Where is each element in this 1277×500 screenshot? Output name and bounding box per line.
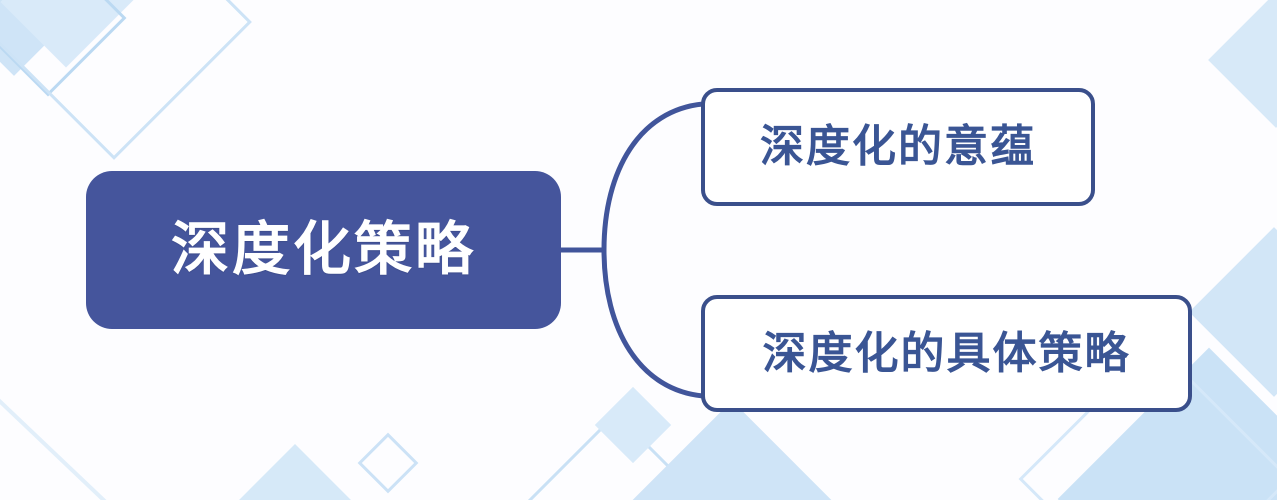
decor-square-outline-b-1: [360, 435, 417, 492]
decor-square-filled-r-1: [1208, 0, 1277, 128]
decor-square-filled-r-2: [1189, 227, 1277, 397]
decor-square-filled-b-3: [598, 401, 867, 500]
decor-square-filled-tl-1: [0, 0, 82, 76]
decor-square-filled-b-2: [595, 387, 671, 463]
mindmap-canvas: 深度化策略 深度化的意蕴 深度化的具体策略: [0, 0, 1277, 500]
node-branch-1-label: 深度化的意蕴: [760, 125, 1036, 169]
node-branch-2-label: 深度化的具体策略: [763, 332, 1131, 376]
decor-square-outline-tl-1: [0, 0, 124, 94]
node-branch-1[interactable]: 深度化的意蕴: [701, 88, 1095, 206]
connector-arc-upper: [604, 104, 703, 250]
decor-square-filled-b-1: [220, 444, 370, 500]
node-root-label: 深度化策略: [171, 221, 476, 279]
decor-diagonal-bl: [0, 392, 112, 500]
decor-square-outline-tl-2: [0, 0, 250, 158]
node-root[interactable]: 深度化策略: [86, 171, 561, 329]
decor-square-filled-tl-2: [0, 0, 140, 68]
connector-arc-lower: [604, 250, 703, 396]
decor-square-outline-b-2: [500, 414, 732, 500]
node-branch-2[interactable]: 深度化的具体策略: [701, 295, 1192, 412]
